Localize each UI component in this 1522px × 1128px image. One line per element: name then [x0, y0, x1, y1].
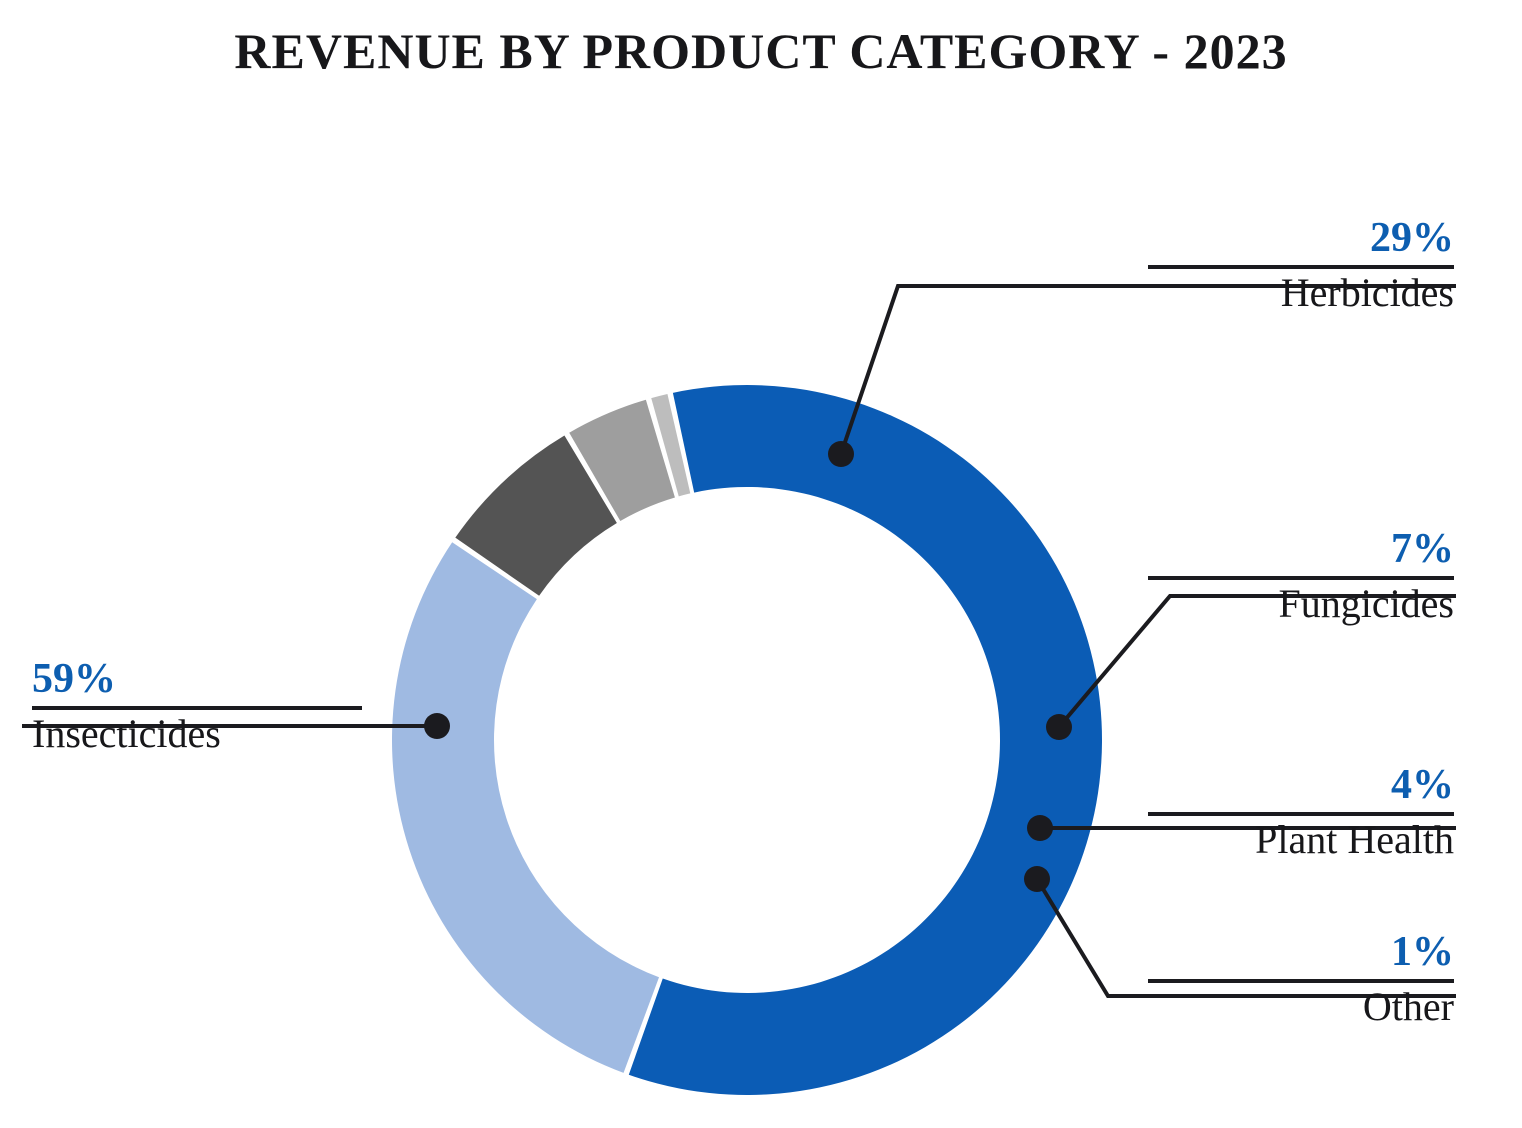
callout-insecticides-label: Insecticides: [32, 712, 362, 757]
callout-other-percent: 1%: [1148, 930, 1454, 975]
donut-slices: [392, 385, 1102, 1095]
leader-dot-other: [1024, 866, 1050, 892]
callout-fungicides[interactable]: 7% Fungicides: [1148, 527, 1454, 626]
callout-plant-health-rule: [1148, 812, 1454, 816]
leader-dot-insecticides: [424, 713, 450, 739]
callout-plant-health[interactable]: 4% Plant Health: [1148, 763, 1454, 862]
callout-fungicides-rule: [1148, 576, 1454, 580]
callout-insecticides-percent: 59%: [32, 657, 362, 702]
callout-fungicides-label: Fungicides: [1148, 582, 1454, 627]
callout-other-label: Other: [1148, 985, 1454, 1030]
callout-herbicides-rule: [1148, 265, 1454, 269]
callout-fungicides-percent: 7%: [1148, 527, 1454, 572]
callout-herbicides[interactable]: 29% Herbicides: [1148, 216, 1454, 315]
callout-herbicides-label: Herbicides: [1148, 271, 1454, 316]
chart-canvas: REVENUE BY PRODUCT CATEGORY - 2023: [0, 0, 1522, 1128]
leader-dot-fungicides: [1046, 714, 1072, 740]
callout-insecticides[interactable]: 59% Insecticides: [32, 657, 362, 756]
callout-other-rule: [1148, 979, 1454, 983]
callout-insecticides-rule: [32, 706, 362, 710]
slice-herbicides[interactable]: [392, 542, 659, 1073]
callout-plant-health-label: Plant Health: [1148, 818, 1454, 863]
callout-other[interactable]: 1% Other: [1148, 930, 1454, 1029]
callout-plant-health-percent: 4%: [1148, 763, 1454, 808]
callout-herbicides-percent: 29%: [1148, 216, 1454, 261]
slice-insecticides[interactable]: [629, 385, 1102, 1095]
leader-dot-plant-health: [1027, 815, 1053, 841]
leader-dot-herbicides: [828, 441, 854, 467]
